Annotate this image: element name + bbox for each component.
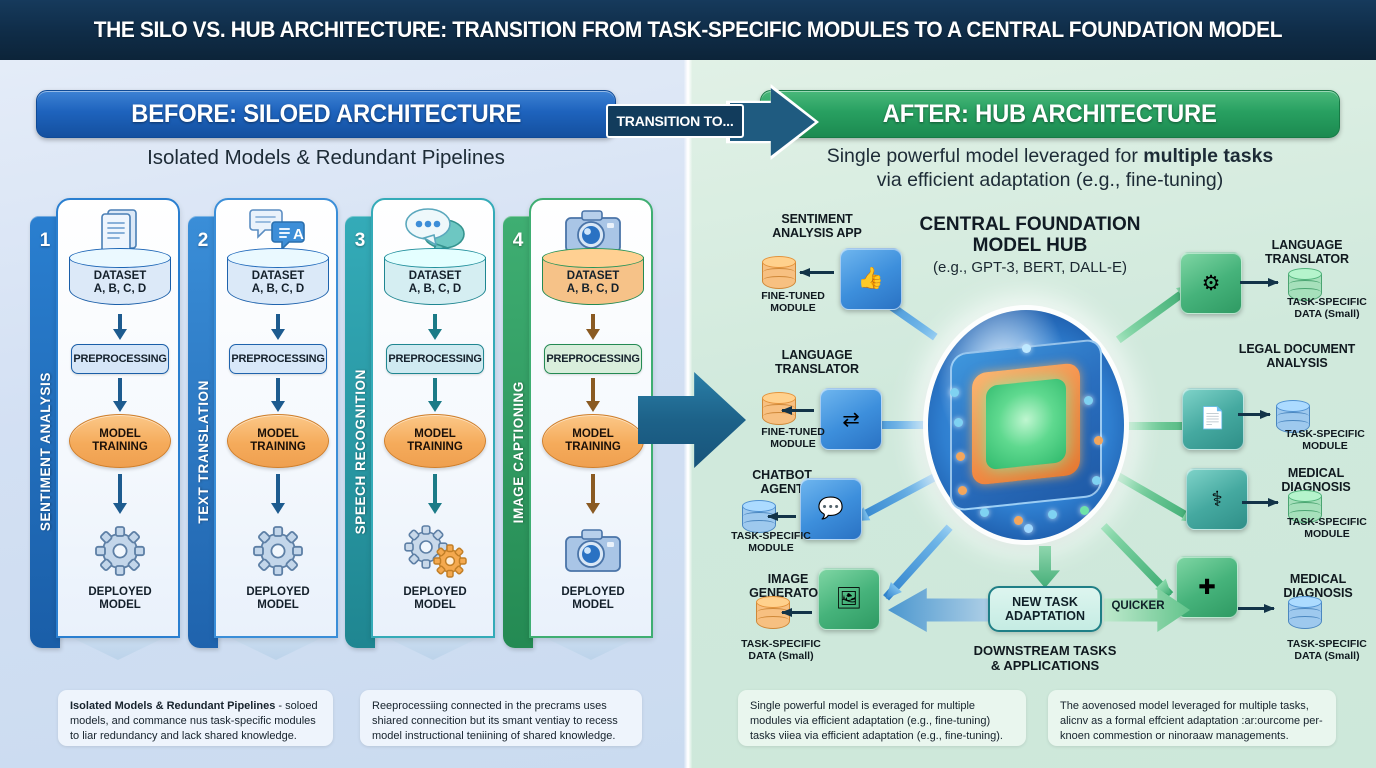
pipeline-4-model-training-label: MODELTRAINING <box>565 428 621 454</box>
hub-node-6 <box>1014 516 1023 525</box>
pipeline-2-body: A DATASETA, B, C, D PREPROCESSING <box>214 198 338 638</box>
before-subtitle: Isolated Models & Redundant Pipelines <box>36 146 616 170</box>
hub-node-4 <box>958 486 967 495</box>
pipeline-3-preprocessing-box: PREPROCESSING <box>386 344 484 374</box>
transition-label: TRANSITION TO... <box>616 113 733 129</box>
central-foundation-model-hub-icon <box>928 310 1124 540</box>
pipeline-3-deployed-label: DEPLOYEDMODEL <box>373 586 497 612</box>
pipeline-4-dataset-label: DATASETA, B, C, D <box>542 270 644 296</box>
pipeline-1-arrow-3 <box>113 474 127 514</box>
hub-node-3 <box>956 452 965 461</box>
hub-node-12 <box>1022 344 1031 353</box>
pipeline-4-preprocessing-label: PREPROCESSING <box>546 353 639 365</box>
after-subtitle: Single powerful model leveraged for mult… <box>740 144 1360 193</box>
before-note-1: Isolated Models & Redundant Pipelines - … <box>58 690 333 746</box>
pipeline-4-arrow-3 <box>586 474 600 514</box>
pipeline-1-deployed-label: DEPLOYEDMODEL <box>58 586 182 612</box>
after-subtitle-pre: Single powerful model leveraged for <box>827 145 1144 167</box>
pipeline-2-arrow-3 <box>271 474 285 514</box>
pipeline-3-preprocessing-label: PREPROCESSING <box>388 353 481 365</box>
pipeline-3-dataset-label: DATASETA, B, C, D <box>384 270 486 296</box>
after-subtitle-bold: multiple tasks <box>1143 145 1273 167</box>
pipeline-3-body: DATASETA, B, C, D PREPROCESSING MODELTRA… <box>371 198 495 638</box>
hub-node-8 <box>1084 396 1093 405</box>
pipeline-2-preprocessing-label: PREPROCESSING <box>231 353 324 365</box>
page-title-bar: THE SILO VS. HUB ARCHITECTURE: TRANSITIO… <box>0 0 1376 60</box>
page-title: THE SILO VS. HUB ARCHITECTURE: TRANSITIO… <box>94 17 1282 43</box>
pipeline-1-model-training: MODELTRAINING <box>69 414 171 468</box>
pipeline-2: 2 TEXT TRANSLATION A DATASETA, B, C, D P… <box>188 198 338 660</box>
hub-title: CENTRAL FOUNDATION MODEL HUB (e.g., GPT-… <box>880 214 1180 276</box>
new-task-adaptation-box: NEW TASKADAPTATION <box>988 586 1102 632</box>
pipeline-1-preprocessing-label: PREPROCESSING <box>73 353 166 365</box>
pipeline-3-arrow-3 <box>428 474 442 514</box>
pipeline-1-arrow-1 <box>113 314 127 340</box>
pipeline-3-arrow-2 <box>428 378 442 412</box>
hub-node-9 <box>1094 436 1103 445</box>
pipeline-2-model-training-label: MODELTRAINING <box>250 428 306 454</box>
pipeline-4-model-training: MODELTRAINING <box>542 414 644 468</box>
pipeline-3: 3 SPEECH RECOGNITION DATASETA, B, C, D P… <box>345 198 495 660</box>
pipeline-3-model-training: MODELTRAINING <box>384 414 486 468</box>
pipeline-2-preprocessing-box: PREPROCESSING <box>229 344 327 374</box>
after-note-1: Single powerful model is everaged for mu… <box>738 690 1026 746</box>
ray-to-translator-left-arrow-icon <box>837 418 925 433</box>
pipeline-1: 1 SENTIMENT ANALYSIS DATASETA, B, C, D P… <box>30 198 180 660</box>
hub-node-1 <box>950 388 959 397</box>
pipeline-2-gear-icon <box>216 520 340 582</box>
pipeline-3-model-training-label: MODELTRAINING <box>407 428 463 454</box>
pipeline-4-deployed-label: DEPLOYEDMODEL <box>531 586 655 612</box>
before-banner: BEFORE: SILOED ARCHITECTURE <box>36 90 616 138</box>
pipeline-3-dataset-cylinder: DATASETA, B, C, D <box>384 248 486 310</box>
pipeline-2-dataset-label: DATASETA, B, C, D <box>227 270 329 296</box>
hub-cube-core <box>986 378 1066 470</box>
hub-node-7 <box>1048 510 1057 519</box>
pipeline-4-body: DATASETA, B, C, D PREPROCESSING MODELTRA… <box>529 198 653 638</box>
hub-node-13 <box>1024 524 1033 533</box>
pipeline-4-arrow-2 <box>586 378 600 412</box>
hub-node-2 <box>954 418 963 427</box>
downstream-tasks-label: DOWNSTREAM TASKS& APPLICATIONS <box>930 644 1160 674</box>
hub-node-5 <box>980 508 989 517</box>
pipeline-1-gear-icon <box>58 520 182 582</box>
pipeline-3-gears-icon <box>373 520 497 582</box>
before-banner-label: BEFORE: SILOED ARCHITECTURE <box>131 100 521 129</box>
hub-title-line2: MODEL HUB <box>880 235 1180 256</box>
new-task-adaptation-label: NEW TASKADAPTATION <box>1005 595 1085 623</box>
quicker-label: QUICKER <box>1106 600 1170 612</box>
transition-badge: TRANSITION TO... <box>600 88 815 156</box>
pipeline-3-arrow-1 <box>428 314 442 340</box>
pipeline-2-model-training: MODELTRAINING <box>227 414 329 468</box>
after-note-2: The aovenosed model leveraged for multip… <box>1048 690 1336 746</box>
pipeline-4-arrow-1 <box>586 314 600 340</box>
pipeline-1-preprocessing-box: PREPROCESSING <box>71 344 169 374</box>
svg-text:A: A <box>293 226 304 243</box>
after-subtitle-line2: via efficient adaptation (e.g., fine-tun… <box>877 169 1224 191</box>
pipeline-1-arrow-2 <box>113 378 127 412</box>
hub-title-subtitle: (e.g., GPT-3, BERT, DALL-E) <box>880 259 1180 276</box>
pipeline-1-dataset-cylinder: DATASETA, B, C, D <box>69 248 171 310</box>
hub-node-11 <box>1080 506 1089 515</box>
pipeline-4-camera-icon <box>531 520 655 582</box>
transition-label-box: TRANSITION TO... <box>606 104 744 138</box>
ray-to-legal-document-arrow-icon <box>1126 418 1214 433</box>
pipeline-4: 4 IMAGE CAPTIONING DATASETA, B, C, D PRE… <box>503 198 653 660</box>
before-note-1-bold: Isolated Models & Redundant Pipelines <box>70 700 275 712</box>
pipeline-2-dataset-cylinder: DATASETA, B, C, D <box>227 248 329 310</box>
pipeline-4-dataset-cylinder: DATASETA, B, C, D <box>542 248 644 310</box>
pipeline-1-dataset-label: DATASETA, B, C, D <box>69 270 171 296</box>
hub-title-line1: CENTRAL FOUNDATION <box>880 214 1180 235</box>
hub-node-10 <box>1092 476 1101 485</box>
pipeline-2-deployed-label: DEPLOYEDMODEL <box>216 586 340 612</box>
before-note-2: Reeprocessiing connected in the precrams… <box>360 690 642 746</box>
pipeline-4-preprocessing-box: PREPROCESSING <box>544 344 642 374</box>
pipeline-1-model-training-label: MODELTRAINING <box>92 428 148 454</box>
after-banner: AFTER: HUB ARCHITECTURE <box>760 90 1340 138</box>
after-banner-label: AFTER: HUB ARCHITECTURE <box>883 100 1217 129</box>
pipeline-2-arrow-2 <box>271 378 285 412</box>
pipeline-1-body: DATASETA, B, C, D PREPROCESSING MODELTRA… <box>56 198 180 638</box>
pipeline-2-arrow-1 <box>271 314 285 340</box>
